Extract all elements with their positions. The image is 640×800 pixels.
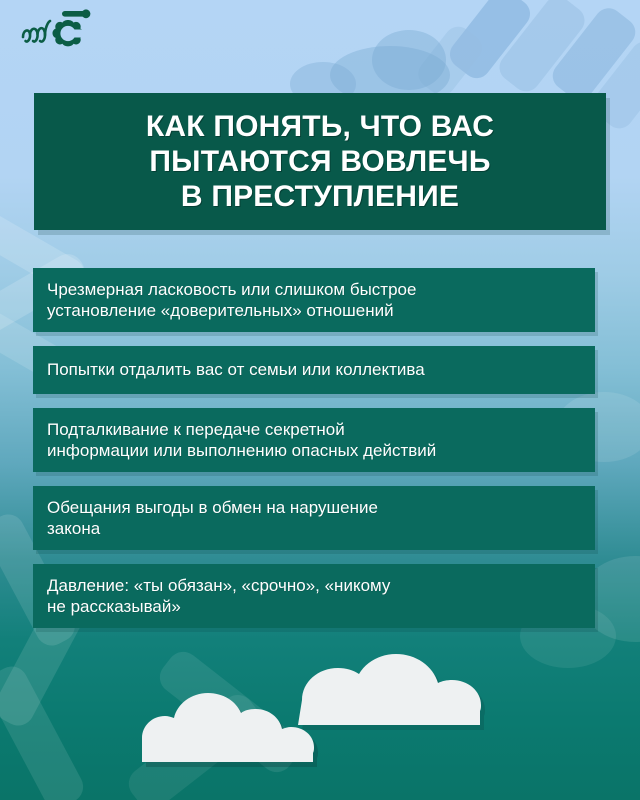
diagonal-bar xyxy=(444,0,535,84)
cloud-front xyxy=(142,693,318,767)
chevron-shape xyxy=(122,688,267,800)
list-item[interactable]: Обещания выгоды в обмен на нарушение зак… xyxy=(33,486,595,550)
chevron-shape xyxy=(153,645,306,778)
page-title: КАК ПОНЯТЬ, ЧТО ВАС ПЫТАЮТСЯ ВОВЛЕЧЬ В П… xyxy=(132,109,508,214)
warning-signs-list: Чрезмерная ласковость или слишком быстро… xyxy=(33,268,595,642)
list-item[interactable]: Давление: «ты обязан», «срочно», «никому… xyxy=(33,564,595,628)
list-item-label: Чрезмерная ласковость или слишком быстро… xyxy=(47,279,416,322)
cloud-back xyxy=(298,654,485,730)
list-item[interactable]: Попытки отдалить вас от семьи или коллек… xyxy=(33,346,595,394)
list-item[interactable]: Подталкивание к передаче секретной инфор… xyxy=(33,408,595,472)
list-item-label: Подталкивание к передаче секретной инфор… xyxy=(47,419,436,462)
infographic-poster: КАК ПОНЯТЬ, ЧТО ВАС ПЫТАЮТСЯ ВОВЛЕЧЬ В П… xyxy=(0,0,640,800)
diagonal-bar xyxy=(547,3,640,106)
soft-cloud xyxy=(372,30,446,90)
brand-logo[interactable] xyxy=(18,8,94,56)
list-item-label: Давление: «ты обязан», «срочно», «никому… xyxy=(47,575,390,618)
diagonal-bar xyxy=(413,21,488,101)
cloud-illustration xyxy=(0,640,640,800)
key-icon xyxy=(62,9,90,18)
list-item[interactable]: Чрезмерная ласковость или слишком быстро… xyxy=(33,268,595,332)
list-item-label: Обещания выгоды в обмен на нарушение зак… xyxy=(47,497,378,540)
list-item-label: Попытки отдалить вас от семьи или коллек… xyxy=(47,359,425,380)
poster-title-block: КАК ПОНЯТЬ, ЧТО ВАС ПЫТАЮТСЯ ВОВЛЕЧЬ В П… xyxy=(34,93,606,230)
diagonal-bar xyxy=(494,0,590,97)
chevron-shape xyxy=(0,661,89,800)
